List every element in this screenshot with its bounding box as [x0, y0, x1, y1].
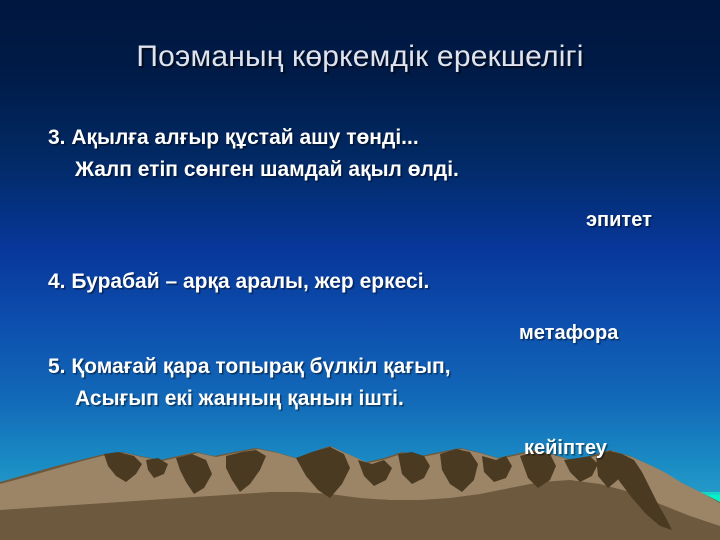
- poem-line-3b: Жалп етіп сөнген шамдай ақыл өлді.: [75, 158, 459, 182]
- slide-canvas: Поэманың көркемдік ерекшелігі 3. Ақылға …: [0, 0, 720, 540]
- poem-line-3a: 3. Ақылға алғыр құстай ашу төнді...: [48, 126, 419, 150]
- term-label-metafora: метафора: [519, 322, 618, 345]
- term-label-epitet: эпитет: [586, 209, 652, 232]
- mountain-range-illustration: [0, 430, 720, 540]
- slide-title: Поэманың көркемдік ерекшелігі: [0, 40, 720, 74]
- poem-line-5b: Асығып екі жанның қанын ішті.: [75, 387, 404, 411]
- poem-line-5a: 5. Қомағай қара топырақ бүлкіл қағып,: [48, 355, 451, 379]
- poem-line-4a: 4. Бурабай – арқа аралы, жер еркесі.: [48, 270, 429, 294]
- term-label-keiypteu: кейіптеу: [524, 437, 607, 460]
